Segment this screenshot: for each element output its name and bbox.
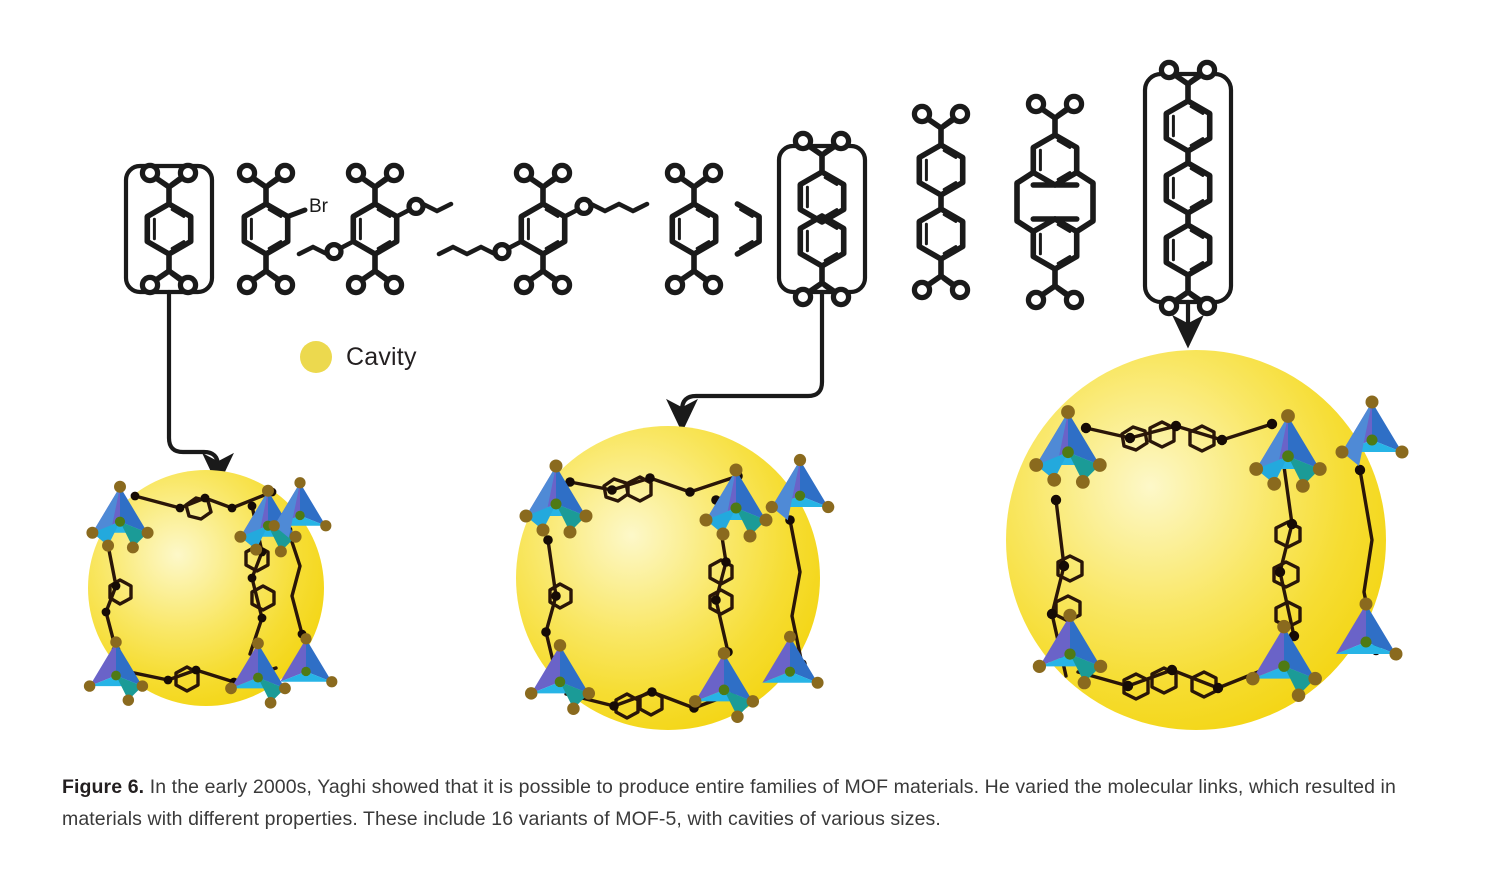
linker-br-bdc: Br [239, 165, 328, 292]
figure-6-root: Br [0, 0, 1500, 884]
linker-bdc [126, 165, 212, 292]
linker-ndc [779, 133, 865, 304]
linker-dipropoxy-bdc [299, 165, 451, 292]
linker-naphthalene-14 [667, 165, 759, 292]
linker-dipentyloxy-bdc [439, 165, 647, 292]
arrow-ndc-to-medium [682, 292, 822, 414]
mof-small [84, 470, 338, 709]
figure-illustration: Br [0, 0, 1500, 760]
cavity-legend-label: Cavity [346, 343, 417, 372]
figure-caption: Figure 6. In the early 2000s, Yaghi show… [62, 772, 1440, 835]
arrow-bdc-to-small [169, 292, 218, 468]
cavity-legend: Cavity [300, 341, 417, 373]
linker-tpdc [1145, 62, 1231, 313]
cavity-swatch-icon [300, 341, 332, 373]
figure-number: Figure 6. [62, 776, 144, 798]
linker-hpdc [1017, 96, 1093, 307]
mof-large [1006, 350, 1409, 730]
svg-text:Br: Br [309, 196, 329, 217]
figure-caption-text: In the early 2000s, Yaghi showed that it… [62, 776, 1396, 830]
mof-medium [516, 426, 834, 730]
linker-bpdc [914, 106, 967, 297]
